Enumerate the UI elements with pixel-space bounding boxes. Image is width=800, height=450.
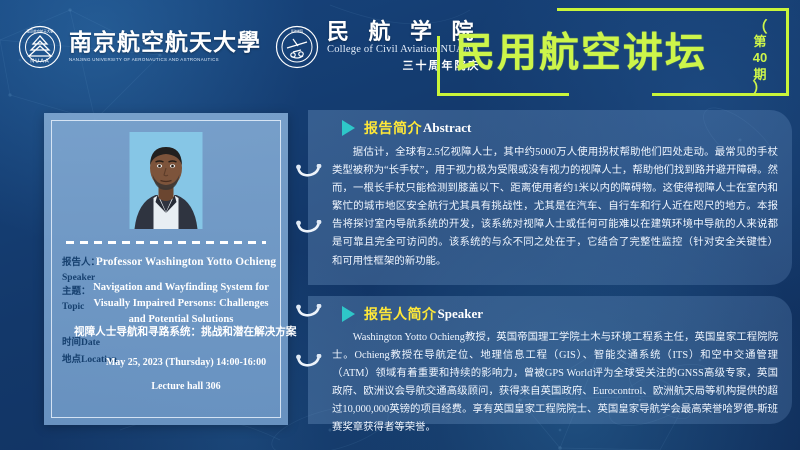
nuaa-seal-icon: NUAA 南京航空航天大學 bbox=[18, 25, 62, 69]
abstract-heading-cn: 报告简介 bbox=[364, 118, 422, 138]
ribbon-clip-icon bbox=[296, 304, 322, 318]
forum-title: 民用航空讲坛 bbox=[455, 20, 707, 78]
speaker-heading-cn: 报告人简介 bbox=[364, 304, 437, 324]
ribbon-clip-icon bbox=[296, 220, 322, 234]
issue-paren-open: （ bbox=[740, 22, 780, 34]
nuaa-name-cn: 南京航空航天大學 bbox=[69, 31, 261, 55]
poster-header: NUAA 南京航空航天大學 南京航空航天大學 NANJING UNIVERSIT… bbox=[0, 0, 800, 100]
ribbon-clip-icon bbox=[296, 164, 322, 178]
issue-paren-close: ） bbox=[740, 83, 780, 95]
nuaa-name-en: NANJING UNIVERSITY OF AERONAUTICS AND AS… bbox=[69, 57, 261, 62]
abstract-panel: 报告简介 Abstract 据估计，全球有2.5亿视障人士，其中约5000万人使… bbox=[308, 110, 792, 285]
event-date: May 25, 2023 (Thursday) 14:00-16:00 bbox=[92, 357, 280, 368]
speaker-bio-body: Washington Yotto Ochieng教授，英国帝国理工学院土木与环境… bbox=[332, 329, 778, 438]
svg-text:民航学院: 民航学院 bbox=[291, 28, 303, 33]
play-triangle-icon bbox=[342, 120, 355, 136]
speaker-name: Professor Washington Yotto Ochieng bbox=[92, 256, 280, 268]
abstract-section-heading: 报告简介 Abstract bbox=[342, 118, 471, 138]
nuaa-wordmark: 南京航空航天大學 NANJING UNIVERSITY OF AERONAUTI… bbox=[69, 31, 261, 62]
logo-group: NUAA 南京航空航天大學 南京航空航天大學 NANJING UNIVERSIT… bbox=[18, 20, 481, 73]
speaker-heading-en: Speaker bbox=[438, 306, 484, 322]
event-location: Lecture hall 306 bbox=[92, 381, 280, 392]
abstract-heading-en: Abstract bbox=[423, 120, 471, 136]
speaker-bio-panel: 报告人简介 Speaker Washington Yotto Ochieng教授… bbox=[308, 296, 792, 424]
speaker-portrait bbox=[130, 132, 203, 229]
play-triangle-icon bbox=[342, 306, 355, 322]
card-dashed-divider bbox=[66, 241, 266, 244]
svg-text:NUAA: NUAA bbox=[30, 58, 50, 64]
speaker-card: 报告人： Speaker 主题： Topic 时间Date 地点Location… bbox=[44, 113, 288, 425]
svg-text:南京航空航天大學: 南京航空航天大學 bbox=[26, 28, 54, 33]
topic-title-en: Navigation and Wayfinding System for Vis… bbox=[84, 280, 278, 328]
abstract-body: 据估计，全球有2.5亿视障人士，其中约5000万人使用拐杖帮助他们四处走动。最常… bbox=[332, 144, 778, 271]
cca-seal-icon: 民航学院 bbox=[275, 25, 319, 69]
speaker-section-heading: 报告人简介 Speaker bbox=[342, 304, 483, 324]
issue-prefix: 第 bbox=[753, 34, 766, 49]
topic-title-cn: 视障人士导航和寻路系统：挑战和潜在解决方案 bbox=[74, 324, 282, 339]
ribbon-clip-icon bbox=[296, 354, 322, 368]
issue-number: 40 bbox=[753, 50, 767, 65]
issue-number-badge: （ 第 40 期 ） bbox=[740, 22, 780, 95]
